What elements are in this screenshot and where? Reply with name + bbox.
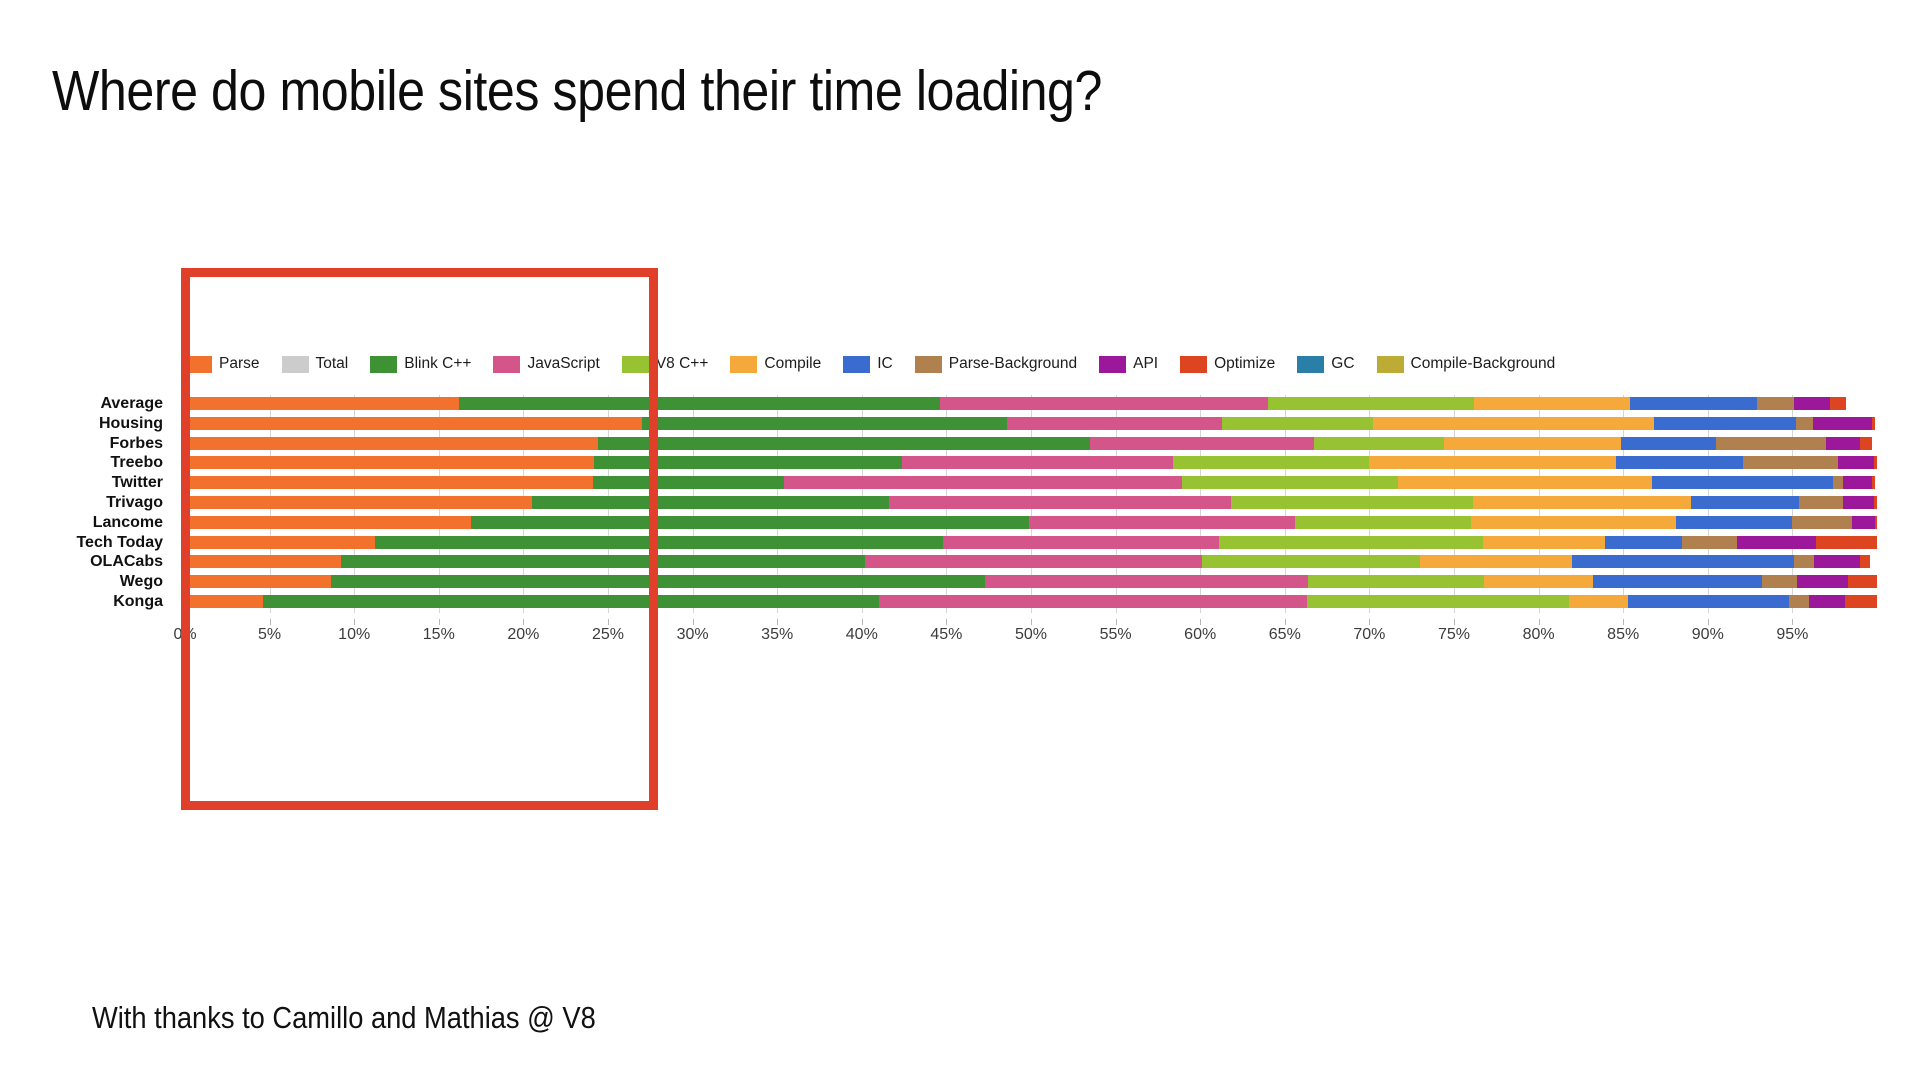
legend-label: API	[1133, 355, 1158, 373]
bar-segment-optimize[interactable]	[1875, 516, 1877, 529]
y-axis-label-wego: Wego	[120, 575, 163, 588]
bar-segment-javascript[interactable]	[1090, 437, 1313, 450]
bar-segment-api[interactable]	[1813, 417, 1872, 430]
bar-segment-javascript[interactable]	[784, 476, 1182, 489]
bar-row[interactable]	[185, 456, 1877, 469]
bar-row[interactable]	[185, 516, 1877, 529]
x-axis-tick-label: 15%	[423, 626, 455, 644]
bar-segment-compile[interactable]	[1474, 397, 1630, 410]
bar-segment-api[interactable]	[1838, 456, 1874, 469]
credit-text: With thanks to Camillo and Mathias @ V8	[92, 1000, 596, 1036]
bar-row[interactable]	[185, 496, 1877, 509]
bar-segment-parse[interactable]	[185, 575, 331, 588]
bar-segment-blink-c-[interactable]	[594, 456, 902, 469]
x-axis-tick-mark	[1031, 619, 1032, 625]
bar-segment-blink-c-[interactable]	[598, 437, 1090, 450]
bar-segment-parse[interactable]	[185, 516, 471, 529]
bar-segment-v8-c-[interactable]	[1182, 476, 1399, 489]
bar-row[interactable]	[185, 555, 1877, 568]
legend-swatch-icon	[1180, 356, 1207, 373]
x-axis-tick-mark	[1539, 619, 1540, 625]
x-axis-tick-mark	[1285, 619, 1286, 625]
legend-label: Blink C++	[404, 355, 471, 373]
x-axis-tick-mark	[1623, 619, 1624, 625]
x-axis-tick-label: 65%	[1269, 626, 1301, 644]
bar-segment-parse-background[interactable]	[1792, 516, 1851, 529]
y-axis-label-forbes: Forbes	[110, 437, 163, 450]
bar-segment-compile[interactable]	[1444, 437, 1622, 450]
x-axis-tick-label: 55%	[1100, 626, 1132, 644]
bar-segment-api[interactable]	[1794, 397, 1830, 410]
x-axis-tick-label: 95%	[1776, 626, 1808, 644]
bar-segment-optimize[interactable]	[1872, 476, 1875, 489]
legend-item-v8-c-[interactable]: V8 C++	[622, 355, 709, 373]
bar-segment-javascript[interactable]	[865, 555, 1202, 568]
bar-segment-v8-c-[interactable]	[1202, 555, 1420, 568]
bar-segment-parse[interactable]	[185, 496, 532, 509]
bar-segment-ic[interactable]	[1605, 536, 1683, 549]
legend-item-javascript[interactable]: JavaScript	[493, 355, 599, 373]
bar-segment-blink-c-[interactable]	[532, 496, 889, 509]
x-axis-tick-mark	[354, 619, 355, 625]
x-axis-tick-label: 40%	[846, 626, 878, 644]
x-axis-tick-label: 45%	[930, 626, 962, 644]
bar-segment-javascript[interactable]	[943, 536, 1219, 549]
bar-segment-optimize[interactable]	[1872, 417, 1875, 430]
bar-segment-ic[interactable]	[1621, 437, 1716, 450]
bar-segment-v8-c-[interactable]	[1295, 516, 1471, 529]
x-axis-tick-mark	[185, 619, 186, 625]
bar-segment-compile[interactable]	[1420, 555, 1572, 568]
bar-segment-optimize[interactable]	[1830, 397, 1847, 410]
x-axis-tick-label: 80%	[1523, 626, 1555, 644]
bar-segment-ic[interactable]	[1616, 456, 1743, 469]
x-axis-tick-mark	[777, 619, 778, 625]
bar-segment-blink-c-[interactable]	[459, 397, 940, 410]
y-axis-label-housing: Housing	[99, 417, 163, 430]
bar-segment-api[interactable]	[1852, 516, 1876, 529]
legend-swatch-icon	[730, 356, 757, 373]
x-axis-tick-mark	[1200, 619, 1201, 625]
x-axis-tick-mark	[608, 619, 609, 625]
bar-segment-v8-c-[interactable]	[1268, 397, 1474, 410]
bar-segment-compile[interactable]	[1484, 575, 1592, 588]
bar-segment-v8-c-[interactable]	[1173, 456, 1369, 469]
y-axis-label-tech-today: Tech Today	[76, 536, 163, 549]
bar-segment-parse-background[interactable]	[1789, 595, 1809, 608]
bar-segment-api[interactable]	[1814, 555, 1860, 568]
y-axis-label-average: Average	[100, 397, 163, 410]
x-axis-tick-mark	[693, 619, 694, 625]
bar-rows	[185, 395, 1877, 613]
bar-segment-compile[interactable]	[1569, 595, 1628, 608]
bar-segment-ic[interactable]	[1628, 595, 1789, 608]
x-axis-tick-mark	[946, 619, 947, 625]
bar-segment-parse-background[interactable]	[1796, 417, 1813, 430]
bar-segment-parse-background[interactable]	[1799, 496, 1843, 509]
x-axis-tick-label: 90%	[1692, 626, 1724, 644]
bar-segment-v8-c-[interactable]	[1222, 417, 1373, 430]
bar-segment-compile[interactable]	[1398, 476, 1652, 489]
x-axis-tick-label: 60%	[1184, 626, 1216, 644]
legend-label: IC	[877, 355, 893, 373]
x-axis-tick-label: 10%	[338, 626, 370, 644]
bar-segment-blink-c-[interactable]	[263, 595, 879, 608]
y-axis-label-treebo: Treebo	[111, 456, 163, 469]
bar-segment-parse-background[interactable]	[1716, 437, 1826, 450]
x-axis-tick-label: 5%	[258, 626, 281, 644]
bar-segment-optimize[interactable]	[1848, 575, 1877, 588]
legend-swatch-icon	[915, 356, 942, 373]
bar-segment-optimize[interactable]	[1845, 595, 1877, 608]
bar-segment-v8-c-[interactable]	[1307, 595, 1569, 608]
bar-segment-compile[interactable]	[1473, 496, 1691, 509]
legend-swatch-icon	[1099, 356, 1126, 373]
bar-segment-blink-c-[interactable]	[593, 476, 784, 489]
x-axis-tick-mark	[1454, 619, 1455, 625]
bar-row[interactable]	[185, 575, 1877, 588]
bar-segment-compile[interactable]	[1373, 417, 1654, 430]
y-axis-label-konga: Konga	[113, 595, 163, 608]
bar-segment-api[interactable]	[1843, 496, 1873, 509]
bar-segment-blink-c-[interactable]	[331, 575, 986, 588]
x-axis-tick-label: 30%	[677, 626, 709, 644]
bar-segment-ic[interactable]	[1676, 516, 1793, 529]
legend-label: V8 C++	[656, 355, 709, 373]
bar-segment-parse[interactable]	[185, 437, 598, 450]
bar-segment-api[interactable]	[1843, 476, 1872, 489]
x-axis-tick-label: 85%	[1607, 626, 1639, 644]
bar-segment-parse[interactable]	[185, 476, 593, 489]
legend-item-gc[interactable]: GC	[1297, 355, 1354, 373]
bar-segment-v8-c-[interactable]	[1314, 437, 1444, 450]
x-axis-tick-label: 35%	[761, 626, 793, 644]
legend-swatch-icon	[185, 356, 212, 373]
bar-segment-ic[interactable]	[1654, 417, 1796, 430]
bar-segment-parse-background[interactable]	[1757, 397, 1794, 410]
bar-segment-javascript[interactable]	[940, 397, 1268, 410]
bar-segment-v8-c-[interactable]	[1231, 496, 1473, 509]
bar-segment-ic[interactable]	[1572, 555, 1794, 568]
bar-segment-optimize[interactable]	[1874, 496, 1877, 509]
x-axis-tick-label: 70%	[1353, 626, 1385, 644]
x-axis-tick-mark	[1792, 619, 1793, 625]
bar-segment-javascript[interactable]	[879, 595, 1307, 608]
y-axis-label-twitter: Twitter	[112, 476, 163, 489]
bar-segment-optimize[interactable]	[1874, 456, 1877, 469]
legend-swatch-icon	[282, 356, 309, 373]
bar-segment-api[interactable]	[1826, 437, 1860, 450]
stacked-bar-chart: ParseTotalBlink C++JavaScriptV8 C++Compi…	[0, 255, 1920, 815]
bar-row[interactable]	[185, 417, 1877, 430]
bar-segment-parse-background[interactable]	[1743, 456, 1838, 469]
bar-segment-parse-background[interactable]	[1794, 555, 1814, 568]
legend-item-compile-background[interactable]: Compile-Background	[1377, 355, 1556, 373]
bar-segment-ic[interactable]	[1593, 575, 1762, 588]
bar-segment-parse[interactable]	[185, 536, 375, 549]
bar-segment-ic[interactable]	[1691, 496, 1799, 509]
bar-segment-parse[interactable]	[185, 555, 341, 568]
bar-segment-parse-background[interactable]	[1762, 575, 1798, 588]
y-axis-label-olacabs: OLACabs	[90, 555, 163, 568]
bar-segment-api[interactable]	[1737, 536, 1817, 549]
bar-segment-javascript[interactable]	[1007, 417, 1222, 430]
bar-segment-blink-c-[interactable]	[642, 417, 1007, 430]
y-axis-label-trivago: Trivago	[106, 496, 163, 509]
x-axis-tick-mark	[1369, 619, 1370, 625]
bar-segment-blink-c-[interactable]	[341, 555, 866, 568]
legend-label: Compile	[764, 355, 821, 373]
x-axis-tick-mark	[1116, 619, 1117, 625]
legend-swatch-icon	[1297, 356, 1324, 373]
bar-segment-javascript[interactable]	[985, 575, 1308, 588]
y-axis-label-lancome: Lancome	[93, 516, 163, 529]
bar-segment-javascript[interactable]	[889, 496, 1231, 509]
bar-segment-blink-c-[interactable]	[375, 536, 944, 549]
bar-row[interactable]	[185, 476, 1877, 489]
legend-swatch-icon	[370, 356, 397, 373]
plot-area	[185, 395, 1877, 613]
legend-item-api[interactable]: API	[1099, 355, 1158, 373]
x-axis-tick-label: 0%	[173, 626, 196, 644]
bar-segment-v8-c-[interactable]	[1308, 575, 1484, 588]
legend-item-optimize[interactable]: Optimize	[1180, 355, 1275, 373]
legend-swatch-icon	[622, 356, 649, 373]
bar-segment-javascript[interactable]	[902, 456, 1173, 469]
bar-segment-blink-c-[interactable]	[471, 516, 1029, 529]
x-axis-tick-label: 50%	[1015, 626, 1047, 644]
page-title: Where do mobile sites spend their time l…	[52, 58, 1102, 124]
bar-segment-parse[interactable]	[185, 595, 263, 608]
chart-legend: ParseTotalBlink C++JavaScriptV8 C++Compi…	[185, 353, 1577, 375]
legend-swatch-icon	[493, 356, 520, 373]
bar-segment-compile[interactable]	[1369, 456, 1616, 469]
legend-item-compile[interactable]: Compile	[730, 355, 821, 373]
bar-segment-optimize[interactable]	[1860, 555, 1870, 568]
legend-item-total[interactable]: Total	[282, 355, 349, 373]
legend-label: Optimize	[1214, 355, 1275, 373]
legend-item-parse[interactable]: Parse	[185, 355, 260, 373]
bar-segment-parse[interactable]	[185, 456, 594, 469]
x-axis-tick-labels: 0%5%10%15%20%25%30%35%40%45%50%55%60%65%…	[185, 619, 1877, 645]
bar-row[interactable]	[185, 595, 1877, 608]
x-axis-tick-label: 25%	[592, 626, 624, 644]
bar-segment-parse[interactable]	[185, 417, 642, 430]
legend-item-parse-background[interactable]: Parse-Background	[915, 355, 1077, 373]
x-axis-tick-mark	[439, 619, 440, 625]
bar-segment-parse-background[interactable]	[1682, 536, 1736, 549]
bar-segment-javascript[interactable]	[1029, 516, 1295, 529]
bar-segment-parse[interactable]	[185, 397, 459, 410]
legend-label: Parse-Background	[949, 355, 1077, 373]
x-axis-tick-mark	[862, 619, 863, 625]
bar-segment-optimize[interactable]	[1860, 437, 1872, 450]
bar-segment-compile[interactable]	[1471, 516, 1676, 529]
legend-label: GC	[1331, 355, 1354, 373]
x-axis-tick-label: 20%	[507, 626, 539, 644]
legend-item-ic[interactable]: IC	[843, 355, 893, 373]
x-axis-tick-mark	[523, 619, 524, 625]
bar-segment-ic[interactable]	[1652, 476, 1833, 489]
legend-label: Compile-Background	[1411, 355, 1556, 373]
bar-row[interactable]	[185, 397, 1877, 410]
legend-swatch-icon	[843, 356, 870, 373]
y-axis-category-labels: AverageHousingForbesTreeboTwitterTrivago…	[0, 395, 175, 613]
bar-segment-api[interactable]	[1809, 595, 1845, 608]
x-axis-tick-label: 75%	[1438, 626, 1470, 644]
bar-segment-v8-c-[interactable]	[1219, 536, 1483, 549]
bar-row[interactable]	[185, 536, 1877, 549]
bar-segment-parse-background[interactable]	[1833, 476, 1843, 489]
x-axis-tick-mark	[1708, 619, 1709, 625]
bar-row[interactable]	[185, 437, 1877, 450]
legend-item-blink-c-[interactable]: Blink C++	[370, 355, 471, 373]
bar-segment-ic[interactable]	[1630, 397, 1757, 410]
legend-label: JavaScript	[527, 355, 599, 373]
bar-segment-compile[interactable]	[1483, 536, 1605, 549]
legend-label: Total	[316, 355, 349, 373]
bar-segment-api[interactable]	[1797, 575, 1848, 588]
x-axis-tick-mark	[270, 619, 271, 625]
bar-segment-optimize[interactable]	[1816, 536, 1877, 549]
legend-swatch-icon	[1377, 356, 1404, 373]
legend-label: Parse	[219, 355, 260, 373]
